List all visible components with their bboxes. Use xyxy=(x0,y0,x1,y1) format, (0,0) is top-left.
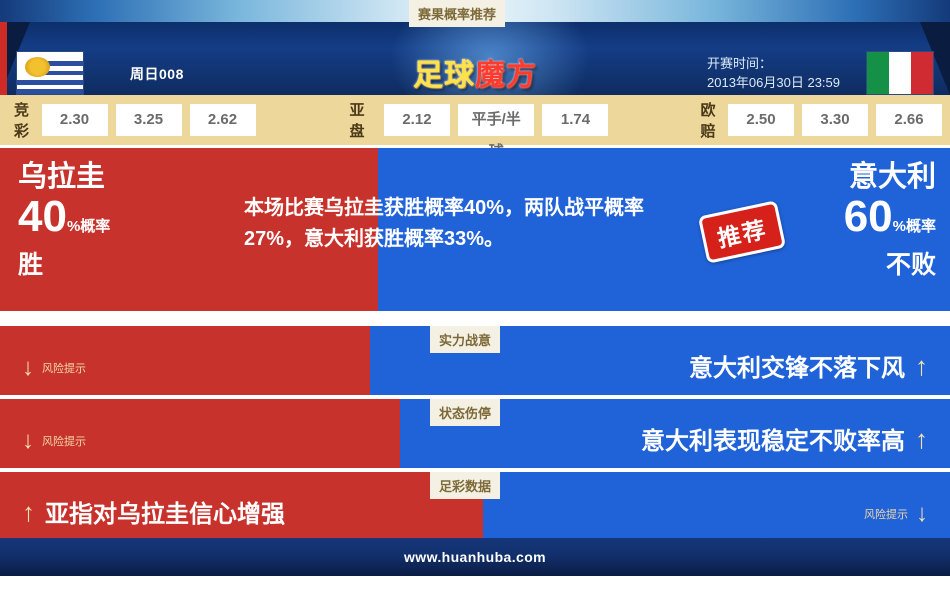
row-home-highlight: ↑ 亚指对乌拉圭信心增强 xyxy=(22,494,285,529)
odds-cell[interactable]: 1.74 xyxy=(542,104,608,136)
odds-cell[interactable]: 2.30 xyxy=(42,104,108,136)
row-away-highlight: 意大利表现稳定不败率高 ↑ xyxy=(641,421,928,456)
arrow-up-icon: ↑ xyxy=(22,499,35,525)
hero-description: 本场比赛乌拉圭获胜概率40%，两队战平概率27%，意大利获胜概率33%。 xyxy=(244,193,674,255)
home-probability: 40 xyxy=(18,192,67,241)
row-home-text: 风险提示 xyxy=(42,433,86,449)
kickoff-value: 2013年06月30日 23:59 xyxy=(707,73,840,92)
row-category-tag: 实力战意 xyxy=(430,326,500,353)
row-away-text: 风险提示 xyxy=(864,506,908,522)
header-bar: 周日008 足球魔方 开赛时间： 2013年06月30日 23:59 xyxy=(0,22,950,95)
odds-cell[interactable]: 2.66 xyxy=(876,104,942,136)
odds-group-jingcai: 竞彩 2.30 3.25 2.62 xyxy=(14,99,264,141)
row-category-tag: 状态伤停 xyxy=(430,399,500,426)
comparison-row: 状态伤停 ↓ 风险提示 意大利表现稳定不败率高 ↑ xyxy=(0,399,950,468)
row-away-note: 风险提示 ↓ xyxy=(864,502,928,526)
odds-cell[interactable]: 2.50 xyxy=(728,104,794,136)
row-home-text: 亚指对乌拉圭信心增强 xyxy=(45,494,285,529)
arrow-down-icon: ↓ xyxy=(22,356,34,380)
odds-cell[interactable]: 3.30 xyxy=(802,104,868,136)
site-url[interactable]: www.huanhuba.com xyxy=(404,549,546,565)
row-home-note: ↓ 风险提示 xyxy=(22,356,86,380)
logo-text-primary: 足球 xyxy=(413,59,475,92)
hero-category-badge: 赛果概率推荐 xyxy=(409,0,505,27)
kickoff-time-block: 开赛时间： 2013年06月30日 23:59 xyxy=(707,54,840,92)
comparison-row: 实力战意 ↓ 风险提示 意大利交锋不落下风 ↑ xyxy=(0,326,950,395)
bottom-padding xyxy=(0,576,950,594)
home-team-block: 乌拉圭 40%概率 胜 xyxy=(18,160,110,280)
row-away-text: 意大利交锋不落下风 xyxy=(689,348,905,383)
arrow-up-icon: ↑ xyxy=(915,353,928,379)
comparison-row: 足彩数据 ↑ 亚指对乌拉圭信心增强 风险提示 ↓ xyxy=(0,472,950,541)
odds-label: 亚盘 xyxy=(350,99,376,141)
odds-group-yapan: 亚盘 2.12 平手/半球 1.74 xyxy=(350,99,617,141)
odds-cell[interactable]: 2.62 xyxy=(190,104,256,136)
row-home-note: ↓ 风险提示 xyxy=(22,429,86,453)
footer-bar: www.huanhuba.com xyxy=(0,538,950,576)
row-home-text: 风险提示 xyxy=(42,360,86,376)
match-number: 周日008 xyxy=(130,64,184,84)
arrow-down-icon: ↓ xyxy=(22,429,34,453)
odds-label: 竞彩 xyxy=(14,99,34,141)
site-logo: 足球魔方 xyxy=(395,48,555,95)
uruguay-flag-icon xyxy=(16,51,84,95)
logo-text-secondary: 魔方 xyxy=(475,59,537,92)
row-away-highlight: 意大利交锋不落下风 ↑ xyxy=(689,348,928,383)
arrow-down-icon: ↓ xyxy=(916,502,928,526)
row-away-text: 意大利表现稳定不败率高 xyxy=(641,421,905,456)
away-outcome: 不败 xyxy=(844,250,936,280)
odds-cell[interactable]: 3.25 xyxy=(116,104,182,136)
italy-flag-icon xyxy=(866,51,934,95)
home-team-name: 乌拉圭 xyxy=(18,160,110,194)
arrow-up-icon: ↑ xyxy=(915,426,928,452)
away-team-name: 意大利 xyxy=(844,160,936,194)
prediction-infographic: 周日008 足球魔方 开赛时间： 2013年06月30日 23:59 竞彩 2.… xyxy=(0,0,950,594)
away-team-block: 意大利 60%概率 不败 xyxy=(844,160,936,280)
hero-panel: 乌拉圭 40%概率 胜 意大利 60%概率 不败 本场比赛乌拉圭获胜概率40%，… xyxy=(0,148,950,311)
home-probability-suffix: %概率 xyxy=(67,218,110,235)
away-probability-suffix: %概率 xyxy=(893,218,936,235)
odds-cell[interactable]: 2.12 xyxy=(384,104,450,136)
kickoff-label: 开赛时间： xyxy=(707,54,840,73)
away-probability: 60 xyxy=(844,192,893,241)
home-outcome: 胜 xyxy=(18,250,110,280)
odds-group-oupei: 欧赔 2.50 3.30 2.66 xyxy=(700,99,950,141)
odds-label: 欧赔 xyxy=(700,99,720,141)
header-red-accent xyxy=(0,22,7,95)
odds-bar: 竞彩 2.30 3.25 2.62 亚盘 2.12 平手/半球 1.74 欧赔 … xyxy=(0,95,950,145)
odds-cell-handicap[interactable]: 平手/半球 xyxy=(458,104,535,136)
row-category-tag: 足彩数据 xyxy=(430,472,500,499)
